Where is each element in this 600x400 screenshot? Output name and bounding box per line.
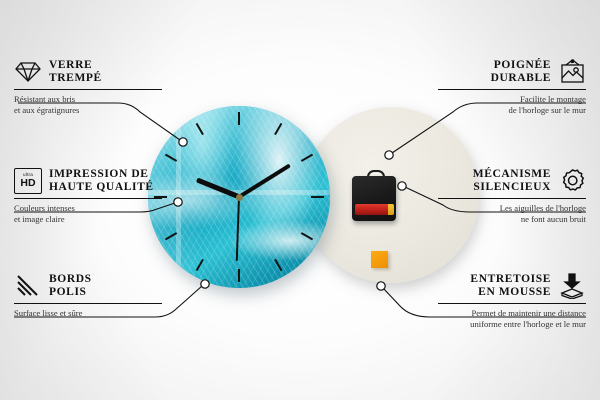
- feature-divider: [14, 89, 162, 90]
- feature-header: VERRE TREMPÉ: [14, 58, 162, 86]
- ultra-hd-icon: ultra HD: [14, 167, 42, 195]
- feature-divider: [438, 303, 586, 304]
- feature-description: Surface lisse et sûre: [14, 308, 162, 319]
- diamond-icon: [14, 58, 42, 86]
- feature-header: MÉCANISME SILENCIEUX: [438, 167, 586, 195]
- hour-marker: [238, 112, 240, 125]
- feature-description: Facilite le montage de l'horloge sur le …: [438, 94, 586, 115]
- feature-header: POIGNÉE DURABLE: [438, 58, 586, 86]
- feature-mecanisme-silencieux: MÉCANISME SILENCIEUX Les aiguilles de l'…: [438, 167, 586, 224]
- feature-description: Résistant aux bris et aux égratignures: [14, 94, 162, 115]
- feature-verre-trempe: VERRE TREMPÉ Résistant aux bris et aux é…: [14, 58, 162, 115]
- polished-edges-icon: [14, 272, 42, 300]
- feature-divider: [438, 198, 586, 199]
- feature-description: Permet de maintenir une distance uniform…: [438, 308, 586, 329]
- feature-header: ENTRETOISE EN MOUSSE: [438, 272, 586, 300]
- feature-title: BORDS POLIS: [49, 273, 162, 299]
- feature-title: IMPRESSION DE HAUTE QUALITÉ: [49, 168, 162, 194]
- feature-header: BORDS POLIS: [14, 272, 162, 300]
- feature-title: POIGNÉE DURABLE: [438, 59, 551, 85]
- hand-center-cap: [236, 194, 243, 201]
- gear-icon: [558, 167, 586, 195]
- feature-title: VERRE TREMPÉ: [49, 59, 162, 85]
- foam-spacer-icon: [558, 272, 586, 300]
- foam-spacer: [371, 251, 388, 268]
- feature-title: MÉCANISME SILENCIEUX: [438, 168, 551, 194]
- feature-bords-polis: BORDS POLIS Surface lisse et sûre: [14, 272, 162, 319]
- connector-node-entretoise: [377, 282, 385, 290]
- feature-description: Les aiguilles de l'horloge ne font aucun…: [438, 203, 586, 224]
- feature-divider: [14, 198, 162, 199]
- battery-positive-cap: [388, 204, 394, 215]
- feature-divider: [438, 89, 586, 90]
- feature-description: Couleurs intenses et image claire: [14, 203, 162, 224]
- infographic-canvas: VERRE TREMPÉ Résistant aux bris et aux é…: [0, 0, 600, 400]
- clock-front-face: [148, 106, 330, 288]
- feature-divider: [14, 303, 162, 304]
- hanging-frame-icon: [558, 58, 586, 86]
- feature-entretoise-en-mousse: ENTRETOISE EN MOUSSE Permet de maintenir…: [438, 272, 586, 329]
- hour-marker: [238, 269, 240, 282]
- hour-marker: [311, 196, 324, 198]
- feature-title: ENTRETOISE EN MOUSSE: [438, 273, 551, 299]
- feature-poignee-durable: POIGNÉE DURABLE Facilite le montage de l…: [438, 58, 586, 115]
- ultra-hd-hd-label: HD: [20, 178, 35, 189]
- feature-impression-haute-qualite: ultra HD IMPRESSION DE HAUTE QUALITÉ Cou…: [14, 167, 162, 224]
- feature-header: ultra HD IMPRESSION DE HAUTE QUALITÉ: [14, 167, 162, 195]
